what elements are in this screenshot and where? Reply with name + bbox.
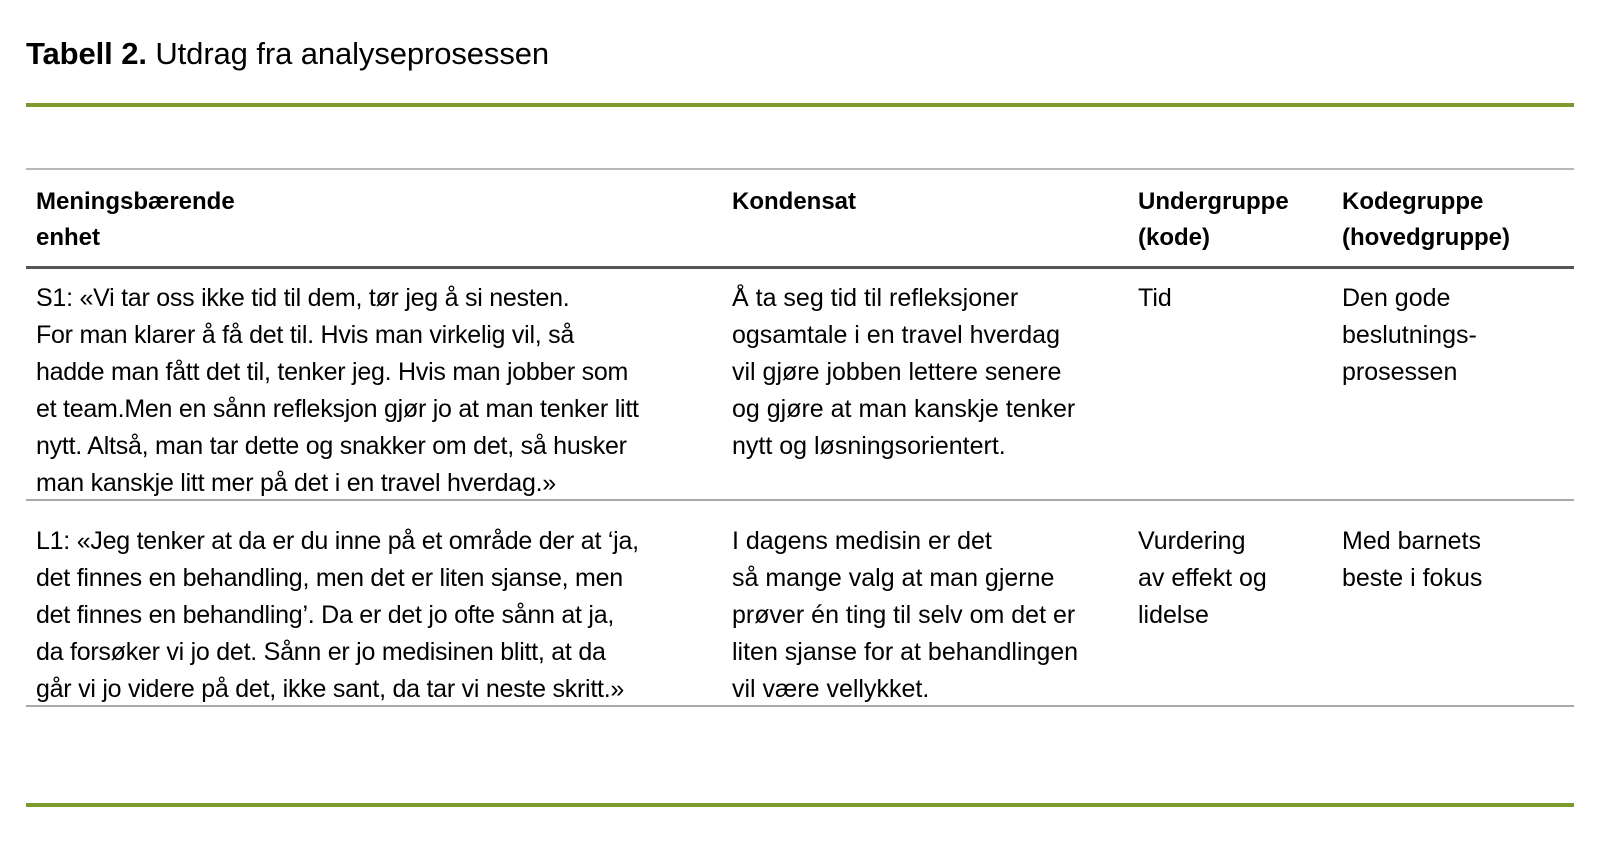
column-header-kondensat: Kondensat (732, 184, 1138, 220)
column-header-line: Undergruppe (1138, 184, 1334, 220)
cell-line: det finnes en behandling’. Da er det jo … (36, 597, 724, 634)
cell-line: vil gjøre jobben lettere senere (732, 354, 1130, 391)
column-header-undergruppe: Undergruppe (kode) (1138, 184, 1342, 256)
table-caption-label: Tabell 2. (26, 36, 147, 71)
cell-kodegruppe: Med barnets beste i fokus (1342, 523, 1574, 597)
cell-line: vil være vellykket. (732, 671, 1130, 708)
table-figure-page: Tabell 2. Utdrag fra analyseprosessen Me… (0, 0, 1600, 851)
column-header-meningsbaerende-enhet: Meningsbærende enhet (26, 184, 732, 256)
cell-undergruppe: Vurdering av effekt og lidelse (1138, 523, 1342, 634)
cell-line: S1: «Vi tar oss ikke tid til dem, tør je… (36, 280, 724, 317)
cell-line: ogsamtale i en travel hverdag (732, 317, 1130, 354)
table-row: S1: «Vi tar oss ikke tid til dem, tør je… (26, 280, 1574, 502)
cell-line: prosessen (1342, 354, 1574, 391)
cell-line: og gjøre at man kanskje tenker (732, 391, 1130, 428)
table-row: L1: «Jeg tenker at da er du inne på et o… (26, 523, 1574, 708)
cell-line: Tid (1138, 280, 1334, 317)
cell-line: Den gode (1342, 280, 1574, 317)
cell-line: man kanskje litt mer på det i en travel … (36, 465, 724, 502)
cell-line: Med barnets (1342, 523, 1574, 560)
cell-line: lidelse (1138, 597, 1334, 634)
cell-line: liten sjanse for at behandlingen (732, 634, 1130, 671)
cell-line: For man klarer å få det til. Hvis man vi… (36, 317, 724, 354)
cell-line: så mange valg at man gjerne (732, 560, 1130, 597)
column-header-line: Kodegruppe (1342, 184, 1574, 220)
cell-line: nytt og løsningsorientert. (732, 428, 1130, 465)
cell-line: Vurdering (1138, 523, 1334, 560)
table-caption: Tabell 2. Utdrag fra analyseprosessen (26, 34, 549, 74)
cell-kodegruppe: Den gode beslutnings- prosessen (1342, 280, 1574, 391)
table-header-row: Meningsbærende enhet Kondensat Undergrup… (26, 184, 1574, 256)
column-header-line: enhet (36, 220, 724, 256)
cell-kondensat: I dagens medisin er det så mange valg at… (732, 523, 1138, 708)
accent-rule-bottom (26, 803, 1574, 807)
cell-line: av effekt og (1138, 560, 1334, 597)
cell-line: Å ta seg tid til refleksjoner (732, 280, 1130, 317)
cell-line: beste i fokus (1342, 560, 1574, 597)
table-header-rule (26, 266, 1574, 269)
cell-kondensat: Å ta seg tid til refleksjoner ogsamtale … (732, 280, 1138, 465)
cell-undergruppe: Tid (1138, 280, 1342, 317)
column-header-kodegruppe: Kodegruppe (hovedgruppe) (1342, 184, 1574, 256)
table-caption-text: Utdrag fra analyseprosessen (155, 36, 549, 71)
cell-meningsbaerende-enhet: L1: «Jeg tenker at da er du inne på et o… (26, 523, 732, 708)
cell-line: går vi jo videre på det, ikke sant, da t… (36, 671, 724, 708)
column-header-line: Meningsbærende (36, 184, 724, 220)
cell-line: det finnes en behandling, men det er lit… (36, 560, 724, 597)
cell-line: da forsøker vi jo det. Sånn er jo medisi… (36, 634, 724, 671)
cell-line: prøver én ting til selv om det er (732, 597, 1130, 634)
cell-line: hadde man fått det til, tenker jeg. Hvis… (36, 354, 724, 391)
cell-line: et team.Men en sånn refleksjon gjør jo a… (36, 391, 724, 428)
cell-line: nytt. Altså, man tar dette og snakker om… (36, 428, 724, 465)
column-header-line: Kondensat (732, 184, 1130, 220)
cell-line: beslutnings- (1342, 317, 1574, 354)
column-header-line: (hovedgruppe) (1342, 220, 1574, 256)
column-header-line: (kode) (1138, 220, 1334, 256)
table-top-rule (26, 168, 1574, 170)
cell-meningsbaerende-enhet: S1: «Vi tar oss ikke tid til dem, tør je… (26, 280, 732, 502)
cell-line: L1: «Jeg tenker at da er du inne på et o… (36, 523, 724, 560)
accent-rule-top (26, 103, 1574, 107)
cell-line: I dagens medisin er det (732, 523, 1130, 560)
